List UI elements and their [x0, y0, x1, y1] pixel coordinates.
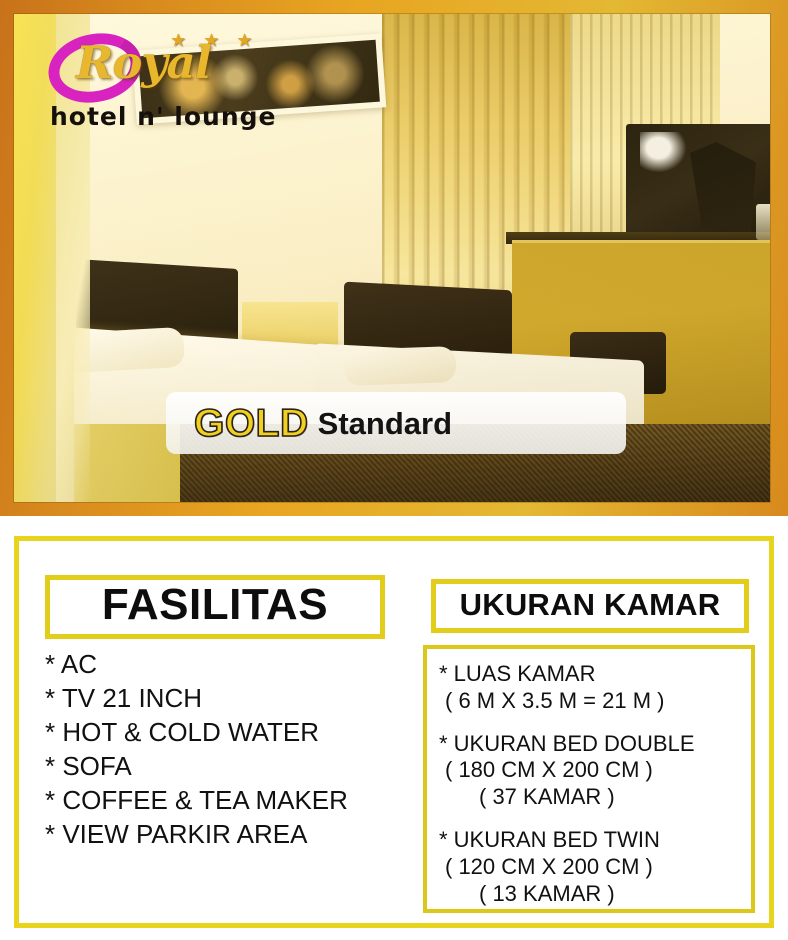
- facilities-list: * AC * TV 21 INCH * HOT & COLD WATER * S…: [33, 647, 405, 851]
- gold-label: GOLD: [194, 404, 309, 443]
- size-group-bed-double: * UKURAN BED DOUBLE ( 180 CM X 200 CM ) …: [439, 731, 741, 811]
- size-detail: ( 180 CM X 200 CM ): [439, 757, 741, 784]
- photo-panel: GOLD Standard ★ ★ ★ Royal hotel n' loung…: [0, 0, 788, 516]
- console-reflection: [756, 204, 770, 240]
- size-heading: * UKURAN BED DOUBLE: [439, 731, 741, 758]
- tv-glare: [640, 132, 686, 172]
- room-size-title-box: UKURAN KAMAR: [431, 579, 749, 633]
- list-item: * HOT & COLD WATER: [45, 715, 405, 749]
- logo-royal-wrap: ★ ★ ★ Royal: [36, 28, 286, 98]
- list-item: * TV 21 INCH: [45, 681, 405, 715]
- gold-standard-banner: GOLD Standard: [166, 392, 626, 454]
- list-item: * VIEW PARKIR AREA: [45, 817, 405, 851]
- size-detail: ( 6 M X 3.5 M = 21 M ): [439, 688, 741, 715]
- size-count: ( 13 KAMAR ): [439, 881, 741, 908]
- brand-tagline: hotel n' lounge: [50, 102, 277, 131]
- list-item: * COFFEE & TEA MAKER: [45, 783, 405, 817]
- size-count: ( 37 KAMAR ): [439, 784, 741, 811]
- size-heading: * LUAS KAMAR: [439, 661, 741, 688]
- facilities-column: FASILITAS * AC * TV 21 INCH * HOT & COLD…: [33, 557, 405, 907]
- poster-root: GOLD Standard ★ ★ ★ Royal hotel n' loung…: [0, 0, 788, 940]
- size-group-luas-kamar: * LUAS KAMAR ( 6 M X 3.5 M = 21 M ): [439, 661, 741, 715]
- size-heading: * UKURAN BED TWIN: [439, 827, 741, 854]
- room-size-title: UKURAN KAMAR: [460, 587, 721, 622]
- room-size-box: * LUAS KAMAR ( 6 M X 3.5 M = 21 M ) * UK…: [423, 645, 755, 913]
- list-item: * SOFA: [45, 749, 405, 783]
- list-item: * AC: [45, 647, 405, 681]
- facilities-title-box: FASILITAS: [45, 575, 385, 639]
- room-size-column: UKURAN KAMAR * LUAS KAMAR ( 6 M X 3.5 M …: [423, 557, 755, 907]
- size-group-bed-twin: * UKURAN BED TWIN ( 120 CM X 200 CM ) ( …: [439, 827, 741, 907]
- room-photo: GOLD Standard ★ ★ ★ Royal hotel n' loung…: [14, 14, 770, 502]
- info-panel: FASILITAS * AC * TV 21 INCH * HOT & COLD…: [14, 536, 774, 928]
- size-detail: ( 120 CM X 200 CM ): [439, 854, 741, 881]
- standard-label: Standard: [318, 408, 452, 439]
- pillow-right: [343, 346, 456, 386]
- brand-name: Royal: [76, 36, 211, 89]
- brand-logo: ★ ★ ★ Royal hotel n' lounge: [36, 28, 286, 140]
- facilities-title: FASILITAS: [102, 580, 328, 629]
- info-columns: FASILITAS * AC * TV 21 INCH * HOT & COLD…: [33, 557, 755, 907]
